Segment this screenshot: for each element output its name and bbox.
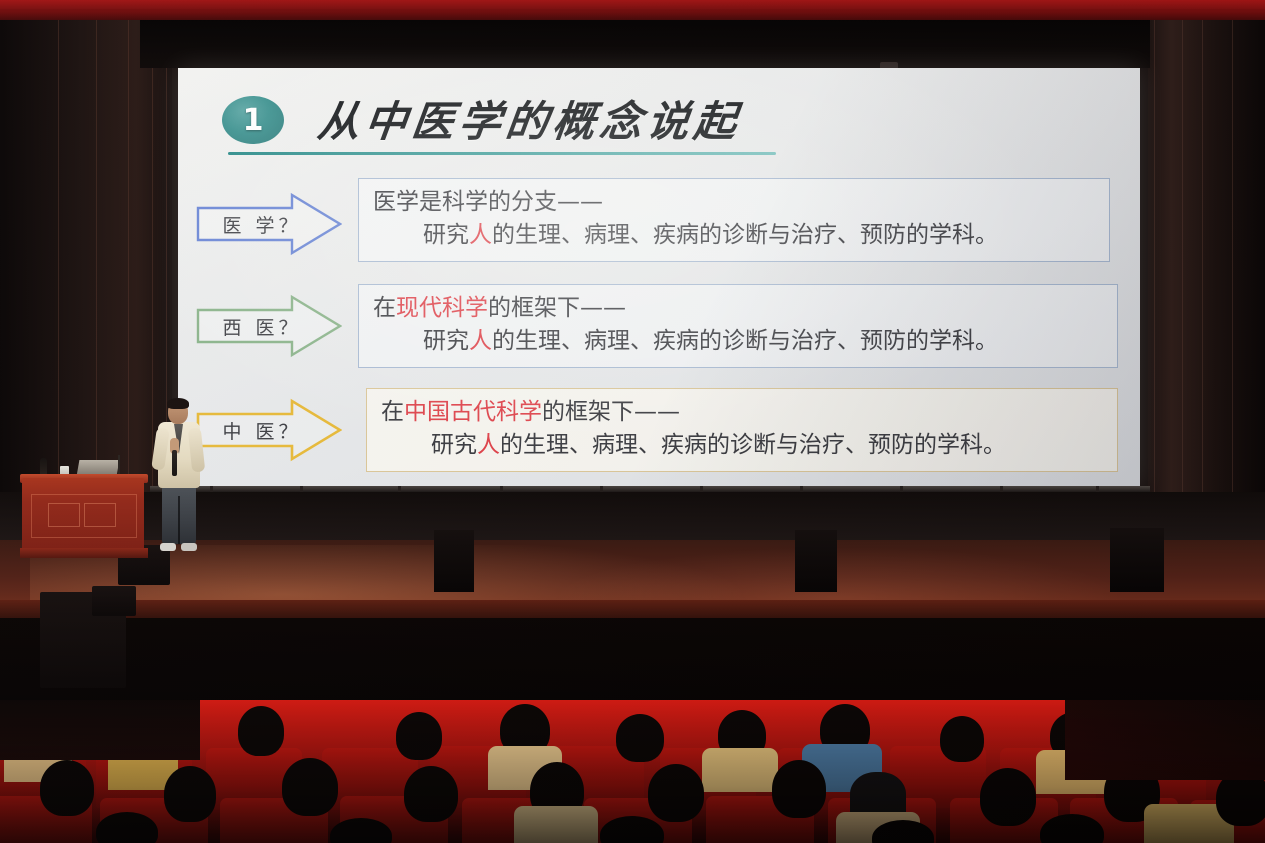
definition-line-2: 研究人的生理、病理、疾病的诊断与治疗、预防的学科。 — [381, 429, 1105, 462]
wedge-monitor-left-edge — [92, 586, 136, 616]
stage-monitor-right — [1110, 528, 1164, 592]
arrow-chinese-medicine: 中 医？ — [196, 398, 342, 462]
definition-box-medicine: 医学是科学的分支—— 研究人的生理、病理、疾病的诊断与治疗、预防的学科。 — [358, 178, 1110, 262]
highlight-person: 人 — [477, 432, 500, 458]
definition-line-2: 研究人的生理、病理、疾病的诊断与治疗、预防的学科。 — [373, 325, 1105, 358]
audience-head — [282, 758, 338, 816]
audience-head — [980, 768, 1036, 826]
arrow-label-western-medicine: 西 医？ — [208, 294, 316, 358]
presenter — [150, 400, 208, 558]
stage-monitor-left — [434, 530, 474, 592]
arrow-medicine: 医 学？ — [196, 192, 342, 256]
audience-head — [238, 706, 284, 756]
audience-head — [772, 760, 826, 818]
definition-line-1: 在中国古代科学的框架下—— — [381, 396, 1105, 429]
presenter-leg-split — [178, 496, 180, 544]
auditorium-presentation-photo: 1 从中医学的概念说起 医 学？ 医学是科学的分支—— 研究人的生理、病理、疾病… — [0, 0, 1265, 843]
podium-diamond-motif-right — [84, 503, 116, 527]
audience-head — [616, 714, 664, 762]
definition-box-chinese-medicine: 在中国古代科学的框架下—— 研究人的生理、病理、疾病的诊断与治疗、预防的学科。 — [366, 388, 1118, 472]
definition-line-1: 在现代科学的框架下—— — [373, 292, 1105, 325]
ceiling-curtain-highlight — [0, 0, 1265, 9]
presenter-shoe-right — [181, 543, 197, 551]
audience-shadow-right — [1065, 700, 1265, 780]
podium-diamond-motif-left — [48, 503, 80, 527]
highlight-person: 人 — [469, 222, 492, 248]
presenter-shoe-left — [160, 543, 176, 551]
highlight-term: 中国古代科学 — [404, 399, 542, 425]
audience-shadow-left — [0, 700, 200, 760]
arrow-western-medicine: 西 医？ — [196, 294, 342, 358]
presenter-hair — [167, 398, 189, 409]
definition-line-2: 研究人的生理、病理、疾病的诊断与治疗、预防的学科。 — [373, 219, 1097, 252]
screen-frame-right — [1140, 68, 1148, 488]
highlight-person: 人 — [469, 328, 492, 354]
overhead-beam — [140, 20, 1150, 68]
audience-head — [648, 764, 704, 822]
highlight-term: 现代科学 — [396, 295, 488, 321]
definition-line-1: 医学是科学的分支—— — [373, 186, 1097, 219]
stage-monitor-center — [795, 530, 837, 592]
audience-shirt — [514, 806, 598, 843]
audience-head — [404, 766, 458, 822]
audience-head — [940, 716, 984, 762]
slide-title: 从中医学的概念说起 — [315, 95, 792, 149]
definition-box-western-medicine: 在现代科学的框架下—— 研究人的生理、病理、疾病的诊断与治疗、预防的学科。 — [358, 284, 1118, 368]
arrow-label-medicine: 医 学？ — [208, 192, 316, 256]
audience-head — [40, 760, 94, 816]
audience-head — [164, 766, 216, 822]
title-underline-rule — [228, 152, 776, 155]
handheld-microphone — [172, 450, 177, 476]
section-number-badge: 1 — [222, 96, 284, 144]
podium-base — [20, 548, 148, 558]
arrow-label-chinese-medicine: 中 医？ — [208, 398, 316, 462]
audience-shirt — [702, 748, 778, 792]
audience-head — [396, 712, 442, 760]
